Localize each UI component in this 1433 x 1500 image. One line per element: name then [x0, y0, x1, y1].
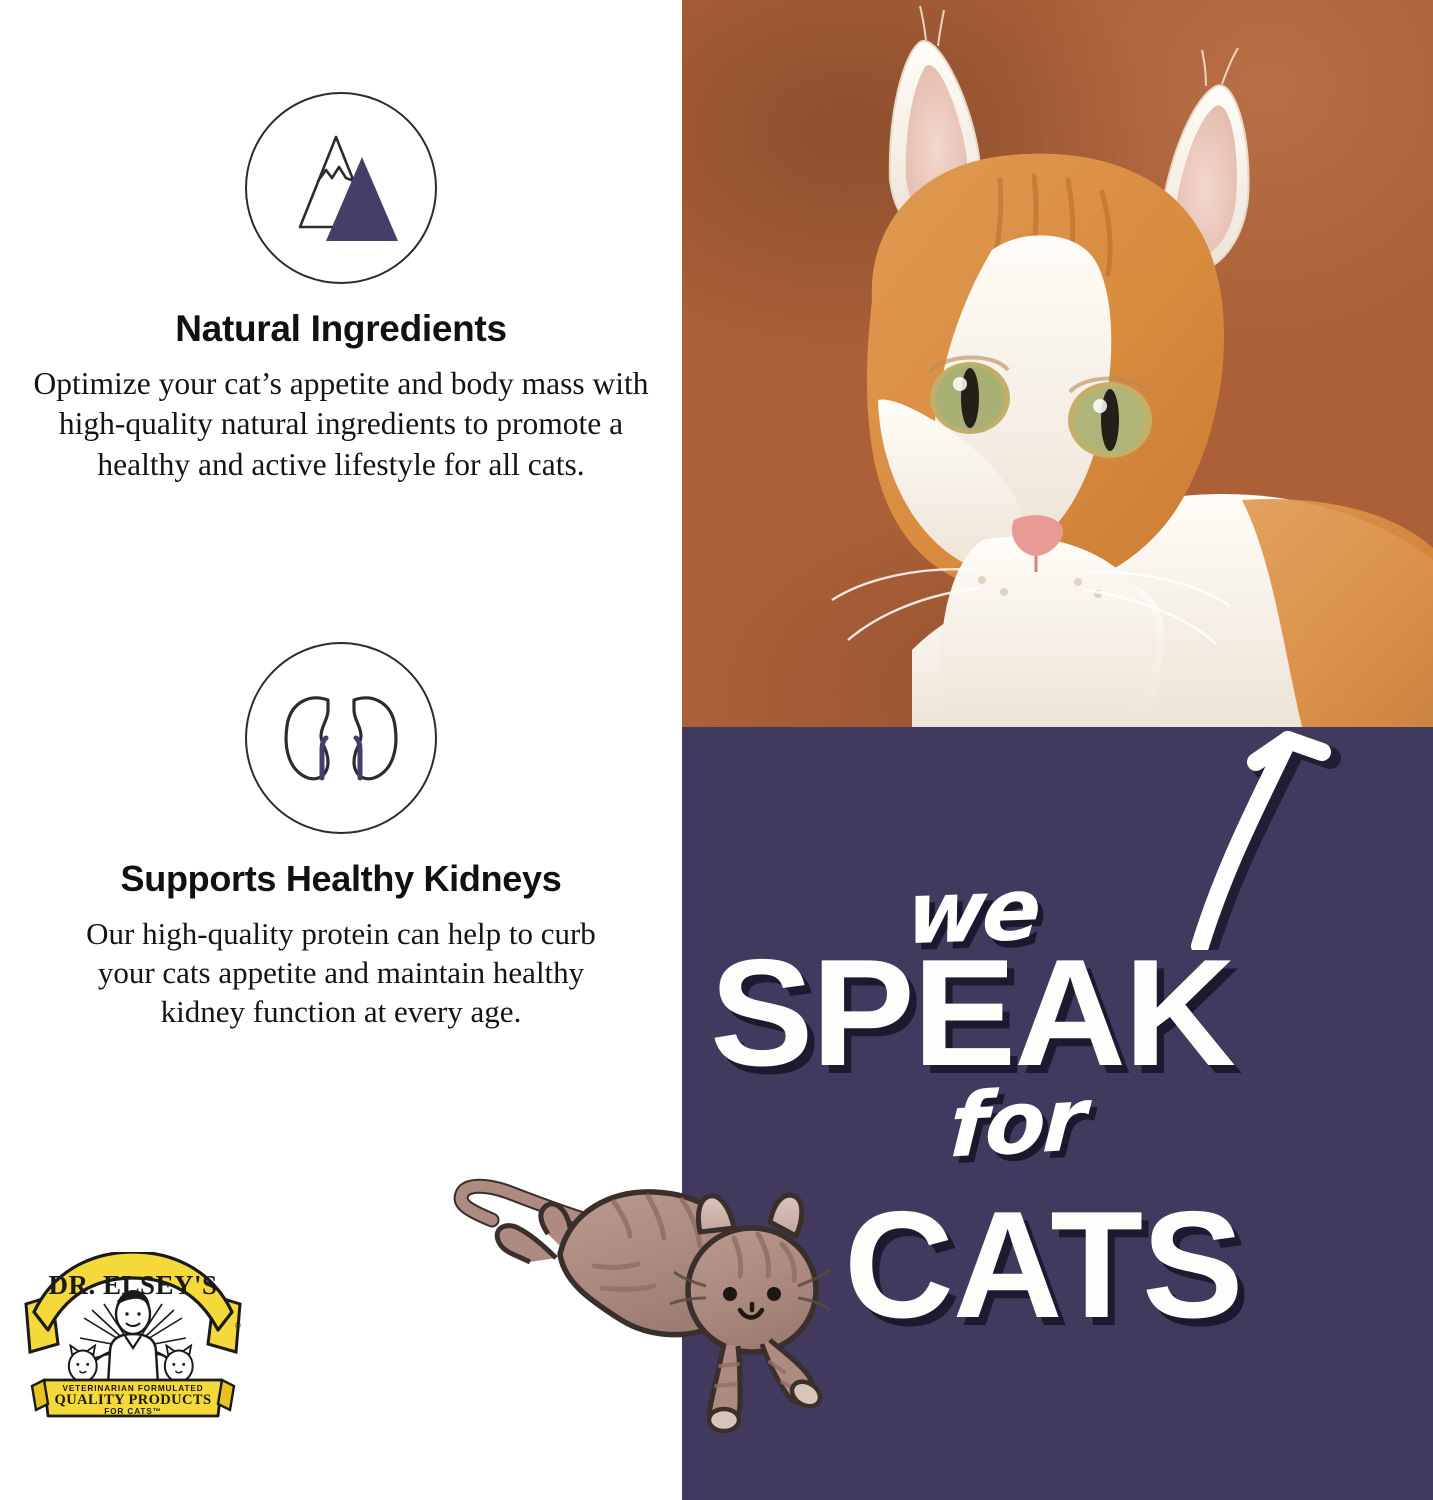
feature-title: Supports Healthy Kidneys — [0, 858, 682, 900]
feature-supports-healthy-kidneys: Supports Healthy Kidneys Our high-qualit… — [0, 642, 682, 1031]
svg-text:QUALITY PRODUCTS: QUALITY PRODUCTS — [55, 1392, 212, 1408]
dr-elseys-logo: DR. ELSEY'S ® — [22, 1252, 244, 1424]
feature-body: Optimize your cat’s appetite and body ma… — [31, 364, 651, 485]
product-feature-graphic: Natural Ingredients Optimize your cat’s … — [0, 0, 1433, 1500]
tagline-word-for: for — [947, 1076, 1085, 1171]
kidney-icon — [245, 642, 437, 834]
svg-text:FOR CATS™: FOR CATS™ — [104, 1407, 162, 1416]
feature-natural-ingredients: Natural Ingredients Optimize your cat’s … — [0, 92, 682, 485]
feature-title: Natural Ingredients — [0, 308, 682, 350]
tagline-word-speak: SPEAK — [710, 937, 1234, 1089]
cat-photo-subject — [682, 0, 1433, 727]
tagline-word-cats: CATS — [844, 1189, 1243, 1341]
svg-text:®: ® — [235, 1321, 241, 1330]
jumping-cartoon-cat-illustration — [452, 1158, 842, 1438]
feature-body: Our high-quality protein can help to cur… — [61, 914, 621, 1031]
mountain-icon — [245, 92, 437, 284]
cat-photo — [682, 0, 1433, 727]
